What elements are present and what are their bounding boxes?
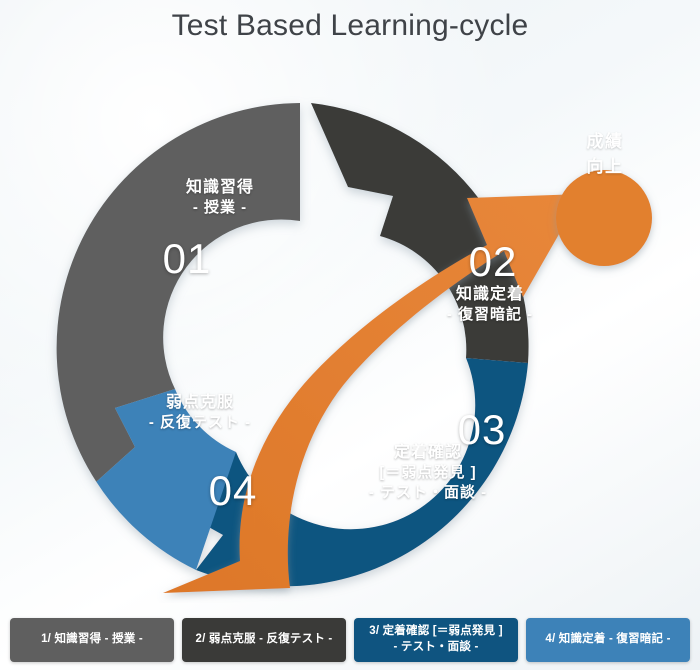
cycle-segment-03[interactable]: [178, 358, 528, 586]
legend-item-3-line2: - テスト・面談 -: [369, 640, 503, 656]
legend-item-2[interactable]: 2/ 弱点克服 - 反復テスト -: [182, 618, 346, 662]
goal-bubble[interactable]: [556, 170, 652, 266]
legend-item-1[interactable]: 1/ 知識習得 - 授業 -: [10, 618, 174, 662]
infographic-canvas: Test Based Learning-cycle: [0, 0, 700, 670]
legend-item-3[interactable]: 3/ 定着確認 [＝弱点発見 ] - テスト・面談 -: [354, 618, 518, 662]
legend-item-4[interactable]: 4/ 知識定着 - 復習暗記 -: [526, 618, 690, 662]
legend: 1/ 知識習得 - 授業 - 2/ 弱点克服 - 反復テスト - 3/ 定着確認…: [0, 618, 700, 662]
legend-item-2-line1: 2/ 弱点克服 - 反復テスト -: [196, 632, 333, 648]
cycle-diagram: [0, 48, 700, 603]
page-title: Test Based Learning-cycle: [0, 6, 700, 46]
legend-item-3-line1: 3/ 定着確認 [＝弱点発見 ]: [369, 624, 503, 640]
legend-item-4-line1: 4/ 知識定着 - 復習暗記 -: [545, 632, 670, 648]
legend-item-1-line1: 1/ 知識習得 - 授業 -: [41, 632, 143, 648]
